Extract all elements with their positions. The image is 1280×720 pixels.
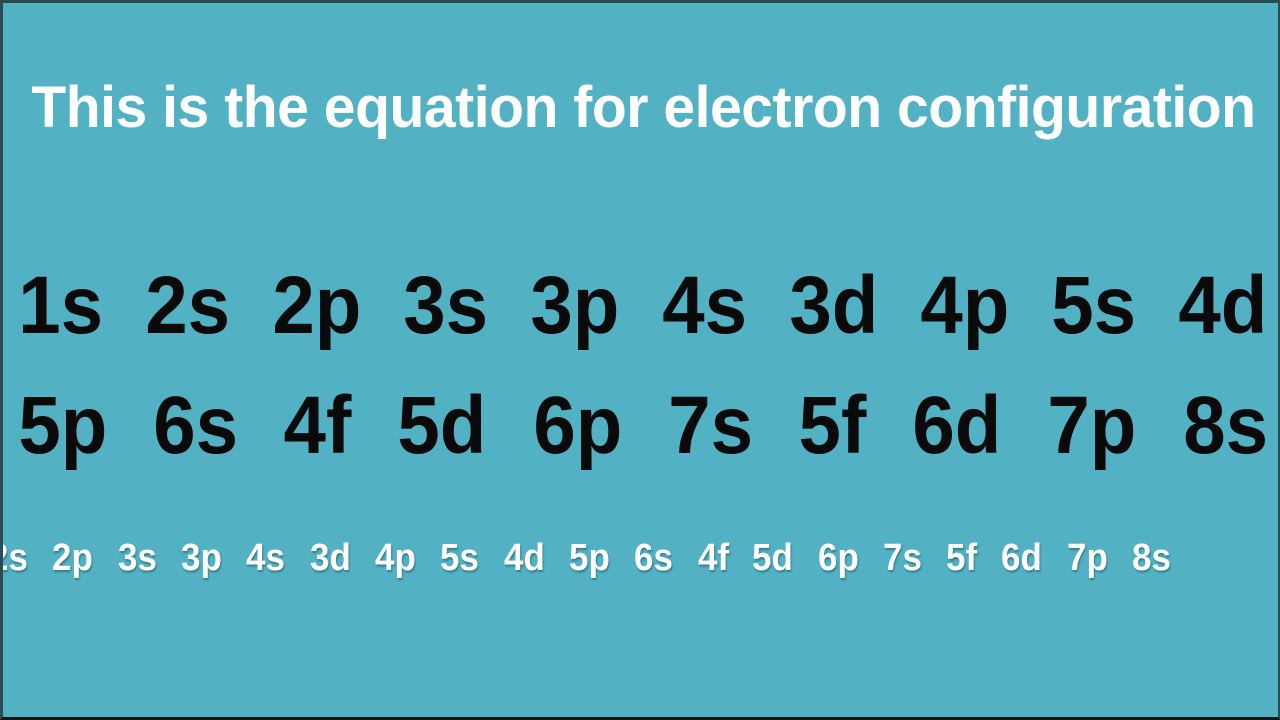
sequence-label: 7s <box>883 539 922 577</box>
sequence-label: 3d <box>310 539 351 577</box>
sequence-label: 5p <box>569 539 610 577</box>
sequence-label: 5d <box>752 539 793 577</box>
orbital-label: 5d <box>397 385 486 467</box>
orbital-label: 6p <box>533 385 622 467</box>
sequence-label: 4s <box>246 539 285 577</box>
orbital-sequence-strip: 2s 2p 3s 3p 4s 3d 4p 5s 4d 5p 6s 4f 5d 6… <box>0 539 1280 587</box>
orbital-label: 3s <box>403 265 488 347</box>
sequence-label: 3p <box>181 539 222 577</box>
orbital-label: 1s <box>18 265 103 347</box>
sequence-label: 8s <box>1132 539 1171 577</box>
sequence-label: 5f <box>946 539 977 577</box>
sequence-label: 4p <box>375 539 416 577</box>
orbital-label: 7p <box>1048 385 1137 467</box>
orbital-label: 6s <box>154 385 239 467</box>
sequence-label: 5s <box>440 539 479 577</box>
orbital-label: 4s <box>662 265 747 347</box>
orbital-label: 6d <box>912 385 1001 467</box>
sequence-label: 7p <box>1067 539 1108 577</box>
sequence-label: 6d <box>1001 539 1042 577</box>
sequence-label: 2p <box>52 539 93 577</box>
orbital-label: 7s <box>668 385 753 467</box>
sequence-label: 3s <box>118 539 157 577</box>
orbital-label: 5s <box>1052 265 1137 347</box>
sequence-label: 4f <box>698 539 729 577</box>
orbital-label: 4d <box>1179 265 1268 347</box>
sequence-label: 6p <box>818 539 859 577</box>
page-title: This is the equation for electron config… <box>31 79 1255 137</box>
orbital-label: 4f <box>284 385 352 467</box>
orbital-label: 5p <box>18 385 107 467</box>
orbital-label: 5f <box>799 385 867 467</box>
slide-canvas: This is the equation for electron config… <box>0 0 1280 720</box>
sequence-label: 4d <box>504 539 545 577</box>
title-bar: This is the equation for electron config… <box>3 69 1280 147</box>
sequence-label: 2s <box>0 539 28 577</box>
orbital-row-2: 5p 6s 4f 5d 6p 7s 5f 6d 7p 8s <box>15 385 1271 467</box>
orbital-label: 8s <box>1183 385 1268 467</box>
orbital-label: 3p <box>531 265 620 347</box>
orbital-label: 2s <box>145 265 230 347</box>
sequence-label: 6s <box>634 539 673 577</box>
orbital-label: 4p <box>920 265 1009 347</box>
orbital-label: 2p <box>272 265 361 347</box>
orbital-row-1: 1s 2s 2p 3s 3p 4s 3d 4p 5s 4d <box>15 265 1271 347</box>
orbital-label: 3d <box>789 265 878 347</box>
